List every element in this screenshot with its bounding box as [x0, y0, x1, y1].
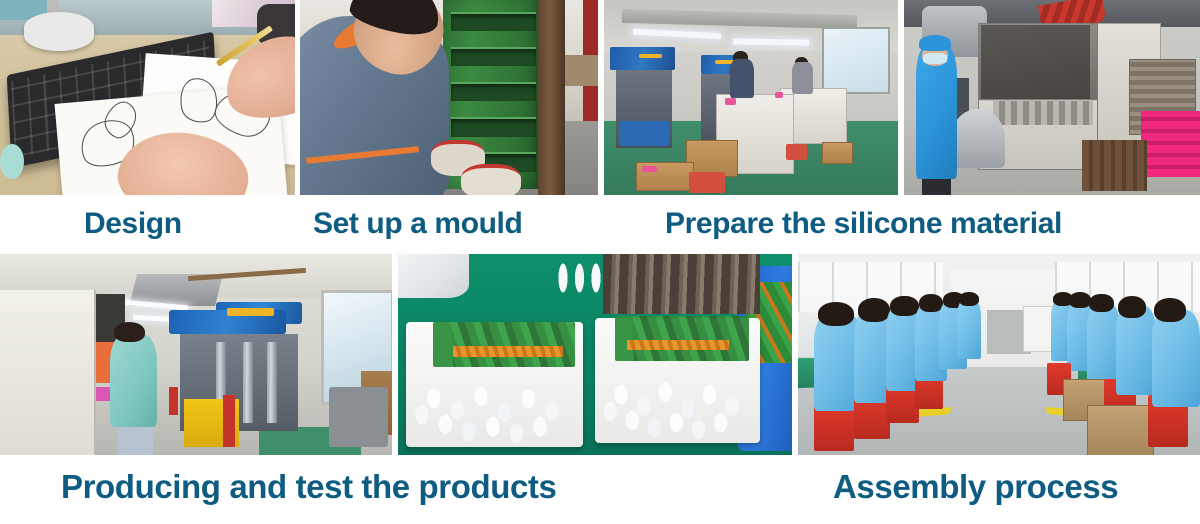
machine-hood	[981, 25, 1091, 99]
worker-smock	[1152, 310, 1200, 406]
trolley-cart	[329, 387, 388, 447]
mouse	[0, 144, 24, 179]
press-column	[243, 342, 253, 422]
worker-head	[818, 302, 854, 326]
worker-head	[890, 296, 918, 316]
cardboard-box	[822, 142, 853, 164]
worker-head	[919, 294, 943, 312]
worker-smock	[957, 300, 981, 358]
process-gallery: Design Set up a mould Prepare the silico…	[0, 0, 1200, 524]
worker-head	[114, 322, 145, 342]
red-safety-bar	[169, 387, 178, 415]
white-product-tubes	[552, 254, 607, 302]
panel-silicone-factory-photo	[604, 0, 898, 195]
mixing-drum	[951, 109, 1004, 168]
stacked-cardboard	[1082, 140, 1147, 191]
caption-assembly-process: Assembly process	[833, 470, 1118, 503]
caption-producing-and-test-the-products: Producing and test the products	[61, 470, 556, 503]
red-stool	[786, 144, 807, 160]
mould-slot	[451, 117, 536, 137]
plastic-bag-of-parts	[398, 254, 469, 298]
press-column	[267, 342, 277, 422]
red-safety-bar	[223, 395, 235, 447]
cardboard-box	[1087, 405, 1153, 455]
worker-head	[1069, 292, 1091, 308]
worker-coverall	[916, 47, 957, 180]
panel-testing-photo	[398, 254, 792, 455]
hygiene-cap	[919, 35, 952, 51]
component-rack	[603, 254, 761, 314]
silicone-bulb-products	[410, 326, 579, 443]
red-stool	[689, 172, 724, 193]
worker-head	[858, 298, 890, 322]
panel-mould-photo	[300, 0, 598, 195]
mould-slot	[451, 12, 536, 32]
monitor-base	[24, 12, 95, 51]
hydraulic-press	[610, 47, 675, 70]
mould-slot	[451, 82, 536, 102]
mould-column	[538, 0, 565, 195]
worker-head	[959, 292, 979, 306]
worker-body	[730, 59, 754, 98]
caption-set-up-a-mould: Set up a mould	[313, 209, 522, 239]
caption-prepare-the-silicone-material: Prepare the silicone material	[665, 209, 1062, 239]
caption-design: Design	[84, 209, 182, 239]
worker-head	[1154, 298, 1186, 322]
pink-crates-stack	[1141, 111, 1200, 177]
worker-body	[792, 62, 813, 93]
wooden-bench	[562, 55, 598, 86]
pink-silicone-part	[725, 98, 737, 106]
press-base	[619, 121, 669, 146]
press-brand-label	[639, 54, 662, 58]
face-mask	[923, 53, 947, 65]
conveyor-rails	[993, 101, 1094, 124]
worker-smock	[1116, 306, 1156, 394]
press-brand-label	[227, 308, 274, 316]
worker-head	[1118, 296, 1146, 318]
panel-producing-photo	[0, 254, 392, 455]
pink-silicone-part	[775, 92, 784, 99]
pink-silicone-part	[642, 166, 657, 172]
factory-window	[822, 27, 891, 93]
worker-shirt	[110, 334, 157, 426]
white-machine-panel	[0, 290, 96, 455]
panel-design-photo	[0, 0, 295, 195]
panel-assembly-photo	[798, 254, 1200, 455]
worker-head	[1089, 294, 1113, 312]
panel-silicone-machine-photo	[904, 0, 1200, 195]
mould-slot	[451, 47, 536, 67]
worker-smock	[1087, 304, 1119, 384]
silicone-bulb-products	[599, 322, 757, 439]
work-glove	[461, 164, 521, 195]
